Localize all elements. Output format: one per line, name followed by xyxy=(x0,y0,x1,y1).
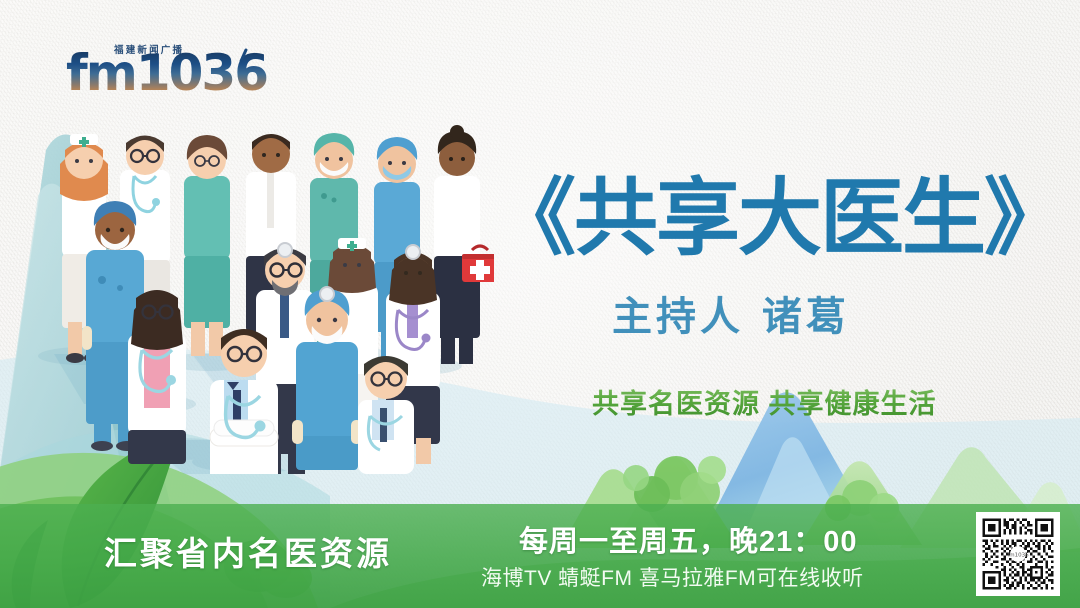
tagline: 共享名医资源 共享健康生活 xyxy=(592,382,970,421)
medical-staff-illustration xyxy=(24,104,494,474)
qr-code-image: fm1036 xyxy=(980,516,1056,592)
band-platforms: 海博TV 蜻蜓FM 喜马拉雅FM可在线收听 xyxy=(481,562,864,592)
program-title: 《共享大医生》 xyxy=(492,163,1044,271)
station-logo: 福建新闻广播 fm1036 xyxy=(66,40,236,102)
host-line: 主持人 诸葛 xyxy=(612,288,932,346)
band-slogan: 汇聚省内名医资源 xyxy=(104,527,392,575)
qr-code[interactable]: fm1036 xyxy=(976,512,1060,596)
program-title-text: 《共享大医生》 xyxy=(492,169,1044,267)
station-logo-wordmark: fm1036 xyxy=(66,48,267,98)
svg-text:fm1036: fm1036 xyxy=(1007,552,1029,558)
host-line-text: 主持人 诸葛 xyxy=(612,294,850,340)
poster-root: 福建新闻广播 fm1036 xyxy=(0,0,1080,608)
band-schedule: 每周一至周五，晚21：00 xyxy=(519,518,858,560)
